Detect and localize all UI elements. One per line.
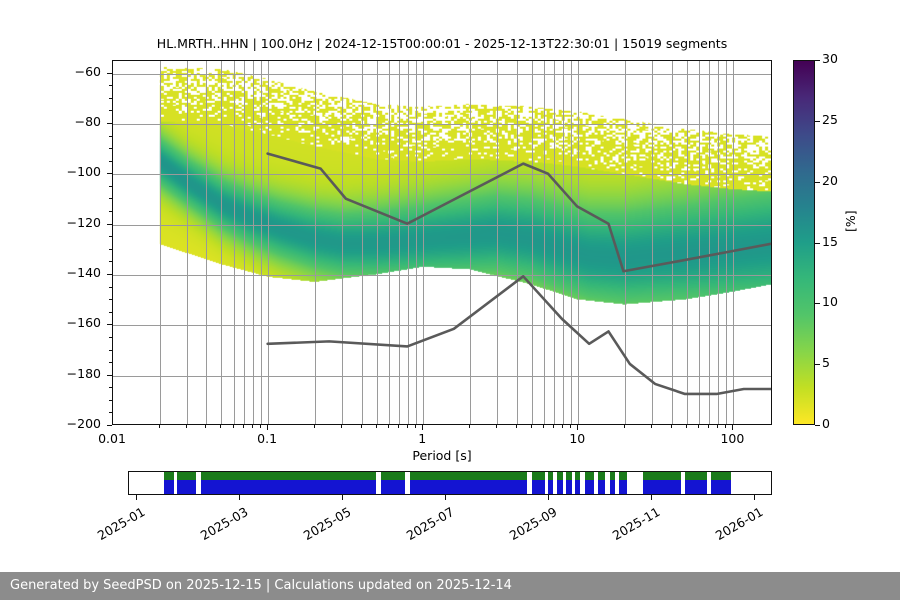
colorbar-tick: [815, 60, 820, 61]
timeline-segment-lower: [619, 480, 627, 494]
y-axis-tick: [107, 274, 112, 275]
x-axis-minor-tick: [243, 425, 244, 428]
y-axis-tick-label: −80: [41, 114, 101, 129]
noise-model-high: [268, 154, 771, 272]
x-axis-minor-tick: [516, 425, 517, 428]
x-axis-tick-label: 1: [387, 431, 457, 446]
y-axis-minor-tick: [109, 350, 112, 351]
timeline-segment-upper: [410, 472, 527, 480]
x-axis-minor-tick: [314, 425, 315, 428]
timeline-segment-upper: [610, 472, 615, 480]
timeline-segment-lower: [566, 480, 572, 494]
timeline-segment-upper: [685, 472, 707, 480]
x-axis-minor-tick: [671, 425, 672, 428]
timeline-segment-lower: [164, 480, 174, 494]
colorbar-tick: [815, 425, 820, 426]
timeline-tick: [651, 495, 652, 500]
timeline-segment: [585, 472, 594, 494]
timeline-segment-upper: [619, 472, 627, 480]
x-axis-minor-tick: [233, 425, 234, 428]
y-axis-minor-tick: [109, 412, 112, 413]
colorbar-tick: [815, 303, 820, 304]
timeline-tick-label: 2025-03: [189, 504, 250, 548]
x-axis-minor-tick: [708, 425, 709, 428]
x-axis-tick-label: 0.1: [232, 431, 302, 446]
colorbar-tick-label: 25: [822, 112, 838, 127]
y-axis-tick: [107, 173, 112, 174]
timeline-segment-upper: [585, 472, 594, 480]
timeline-segment: [557, 472, 563, 494]
timeline-segment-lower: [711, 480, 732, 494]
x-axis-minor-tick: [415, 425, 416, 428]
x-axis-minor-tick: [651, 425, 652, 428]
y-axis-tick-label: −180: [41, 366, 101, 381]
x-axis-minor-tick: [531, 425, 532, 428]
y-axis-minor-tick: [109, 186, 112, 187]
y-axis-minor-tick: [109, 387, 112, 388]
timeline-segment-lower: [610, 480, 615, 494]
timeline-segment-lower: [201, 480, 376, 494]
timeline-segment: [575, 472, 580, 494]
y-axis-tick-label: −140: [41, 265, 101, 280]
timeline-segment: [381, 472, 405, 494]
x-axis-minor-tick: [686, 425, 687, 428]
timeline-segment-lower: [585, 480, 594, 494]
colorbar-tick-label: 15: [822, 234, 838, 249]
y-axis-minor-tick: [109, 98, 112, 99]
timeline-tick: [754, 495, 755, 500]
y-axis-tick: [107, 375, 112, 376]
timeline-tick: [136, 495, 137, 500]
colorbar-tick-label: 30: [822, 51, 838, 66]
timeline-tick-label: 2025-11: [601, 504, 662, 548]
colorbar-tick: [815, 243, 820, 244]
page-title: HL.MRTH..HHN | 100.0Hz | 2024-12-15T00:0…: [112, 36, 772, 51]
y-axis-minor-tick: [109, 362, 112, 363]
timeline-segment-upper: [575, 472, 580, 480]
timeline-segment: [610, 472, 615, 494]
y-axis-tick: [107, 224, 112, 225]
y-axis-minor-tick: [109, 236, 112, 237]
x-axis-minor-tick: [205, 425, 206, 428]
x-axis-minor-tick: [398, 425, 399, 428]
y-axis-tick-label: −160: [41, 315, 101, 330]
timeline-segment-lower: [685, 480, 707, 494]
y-axis-minor-tick: [109, 85, 112, 86]
colorbar-tick-label: 5: [822, 355, 830, 370]
x-axis-minor-tick: [260, 425, 261, 428]
timeline-segment-upper: [381, 472, 405, 480]
x-axis-label: Period [s]: [112, 448, 772, 463]
psd-figure: HL.MRTH..HHN | 100.0Hz | 2024-12-15T00:0…: [0, 0, 900, 600]
x-axis-tick-label: 10: [542, 431, 612, 446]
timeline-segment: [177, 472, 196, 494]
timeline-segment-upper: [566, 472, 572, 480]
timeline-tick: [342, 495, 343, 500]
x-axis-minor-tick: [407, 425, 408, 428]
y-axis-minor-tick: [109, 148, 112, 149]
x-axis-tick-label: 100: [697, 431, 767, 446]
x-axis-tick: [577, 425, 578, 430]
x-axis-minor-tick: [341, 425, 342, 428]
colorbar-label: [%]: [843, 210, 858, 232]
psd-plot-area: [112, 60, 772, 425]
y-axis-minor-tick: [109, 136, 112, 137]
y-axis-minor-tick: [109, 261, 112, 262]
timeline-segment: [410, 472, 527, 494]
x-axis-minor-tick: [186, 425, 187, 428]
x-axis-minor-tick: [388, 425, 389, 428]
timeline-segment: [619, 472, 627, 494]
timeline-segment-lower: [532, 480, 545, 494]
x-axis-minor-tick: [376, 425, 377, 428]
footer-status-bar: Generated by SeedPSD on 2025-12-15 | Cal…: [0, 572, 900, 600]
colorbar-tick: [815, 121, 820, 122]
x-axis-minor-tick: [562, 425, 563, 428]
timeline-segment: [164, 472, 174, 494]
timeline-segment: [532, 472, 545, 494]
y-axis-tick: [107, 425, 112, 426]
timeline-segment: [643, 472, 682, 494]
y-axis-tick-label: −120: [41, 215, 101, 230]
noise-model-low: [268, 276, 771, 394]
colorbar-tick: [815, 364, 820, 365]
x-axis-minor-tick: [624, 425, 625, 428]
y-axis-tick-label: −60: [41, 64, 101, 79]
y-axis-minor-tick: [109, 110, 112, 111]
x-axis-tick: [732, 425, 733, 430]
x-axis-minor-tick: [725, 425, 726, 428]
y-axis-tick: [107, 73, 112, 74]
x-axis-minor-tick: [469, 425, 470, 428]
timeline-segment: [201, 472, 376, 494]
timeline-segment: [711, 472, 732, 494]
data-availability-timeline: [128, 471, 772, 495]
y-axis-tick: [107, 123, 112, 124]
colorbar-tick-label: 10: [822, 294, 838, 309]
timeline-tick: [548, 495, 549, 500]
timeline-segment-upper: [548, 472, 552, 480]
timeline-tick-label: 2025-07: [395, 504, 456, 548]
y-axis-minor-tick: [109, 161, 112, 162]
x-axis-tick: [267, 425, 268, 430]
timeline-segment-lower: [548, 480, 552, 494]
timeline-segment: [598, 472, 605, 494]
timeline-segment-upper: [177, 472, 196, 480]
x-axis-minor-tick: [361, 425, 362, 428]
timeline-segment-lower: [598, 480, 605, 494]
timeline-tick-label: 2025-01: [86, 504, 147, 548]
noise-model-lines: [113, 61, 771, 424]
y-axis-minor-tick: [109, 299, 112, 300]
timeline-segment-lower: [177, 480, 196, 494]
y-axis-minor-tick: [109, 287, 112, 288]
timeline-segment-lower: [643, 480, 682, 494]
x-axis-tick: [422, 425, 423, 430]
colorbar-tick-label: 0: [822, 416, 830, 431]
y-axis-minor-tick: [109, 198, 112, 199]
y-axis-minor-tick: [109, 249, 112, 250]
x-axis-minor-tick: [543, 425, 544, 428]
timeline-segment-upper: [532, 472, 545, 480]
x-axis-tick-label: 0.01: [77, 431, 147, 446]
timeline-segment-lower: [410, 480, 527, 494]
timeline-segment-upper: [201, 472, 376, 480]
timeline-tick: [239, 495, 240, 500]
timeline-segment: [548, 472, 552, 494]
timeline-segment-lower: [381, 480, 405, 494]
timeline-segment-upper: [164, 472, 174, 480]
timeline-segment: [566, 472, 572, 494]
timeline-segment-lower: [575, 480, 580, 494]
x-axis-minor-tick: [570, 425, 571, 428]
x-axis-minor-tick: [698, 425, 699, 428]
y-axis-tick-label: −100: [41, 164, 101, 179]
timeline-tick-label: 2026-01: [704, 504, 765, 548]
y-axis-tick-label: −200: [41, 416, 101, 431]
x-axis-minor-tick: [496, 425, 497, 428]
timeline-segment-upper: [711, 472, 732, 480]
y-axis-minor-tick: [109, 211, 112, 212]
colorbar-tick-label: 20: [822, 173, 838, 188]
timeline-segment-lower: [557, 480, 563, 494]
x-axis-minor-tick: [220, 425, 221, 428]
y-axis-minor-tick: [109, 312, 112, 313]
timeline-tick-label: 2025-05: [292, 504, 353, 548]
x-axis-minor-tick: [159, 425, 160, 428]
timeline-tick: [445, 495, 446, 500]
x-axis-minor-tick: [553, 425, 554, 428]
timeline-segment-upper: [557, 472, 563, 480]
y-axis-minor-tick: [109, 400, 112, 401]
y-axis-minor-tick: [109, 337, 112, 338]
x-axis-minor-tick: [252, 425, 253, 428]
x-axis-minor-tick: [717, 425, 718, 428]
y-axis-tick: [107, 324, 112, 325]
colorbar: [793, 60, 815, 425]
timeline-segment-upper: [643, 472, 682, 480]
colorbar-tick: [815, 182, 820, 183]
timeline-tick-label: 2025-09: [498, 504, 559, 548]
timeline-segment-upper: [598, 472, 605, 480]
timeline-segment: [685, 472, 707, 494]
